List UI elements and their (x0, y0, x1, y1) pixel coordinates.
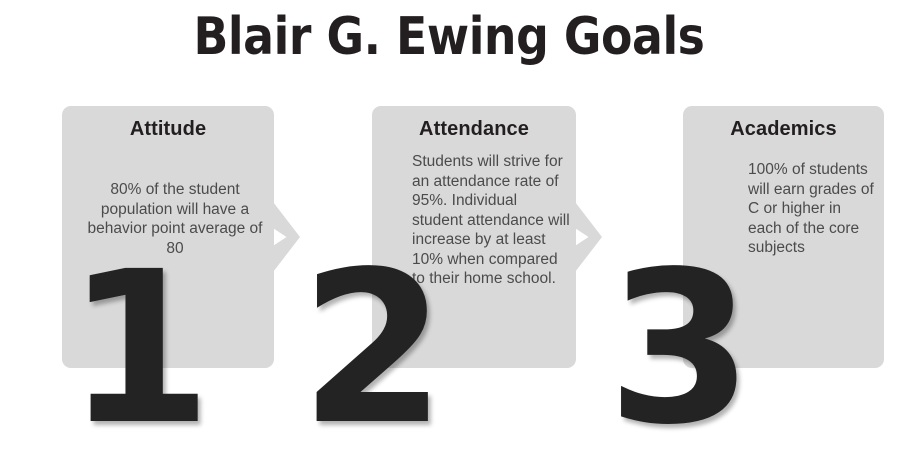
chevron-right-icon (572, 198, 602, 276)
goal-numeral-3: 3 (607, 254, 749, 444)
goal-body-3: 100% of students will earn grades of C o… (748, 160, 878, 258)
goal-card-1: Attitude 80% of the student population w… (62, 106, 274, 368)
goal-card-2: Attendance Students will strive for an a… (372, 106, 576, 368)
goal-card-3: Academics 100% of students will earn gra… (683, 106, 884, 368)
chevron-right-icon (270, 198, 300, 276)
goal-heading-3: Academics (683, 118, 884, 141)
goals-row: Attitude 80% of the student population w… (0, 0, 898, 415)
goal-numeral-2: 2 (300, 254, 442, 444)
goal-numeral-1: 1 (66, 254, 208, 444)
goal-heading-2: Attendance (372, 118, 576, 141)
goal-heading-1: Attitude (62, 118, 274, 141)
